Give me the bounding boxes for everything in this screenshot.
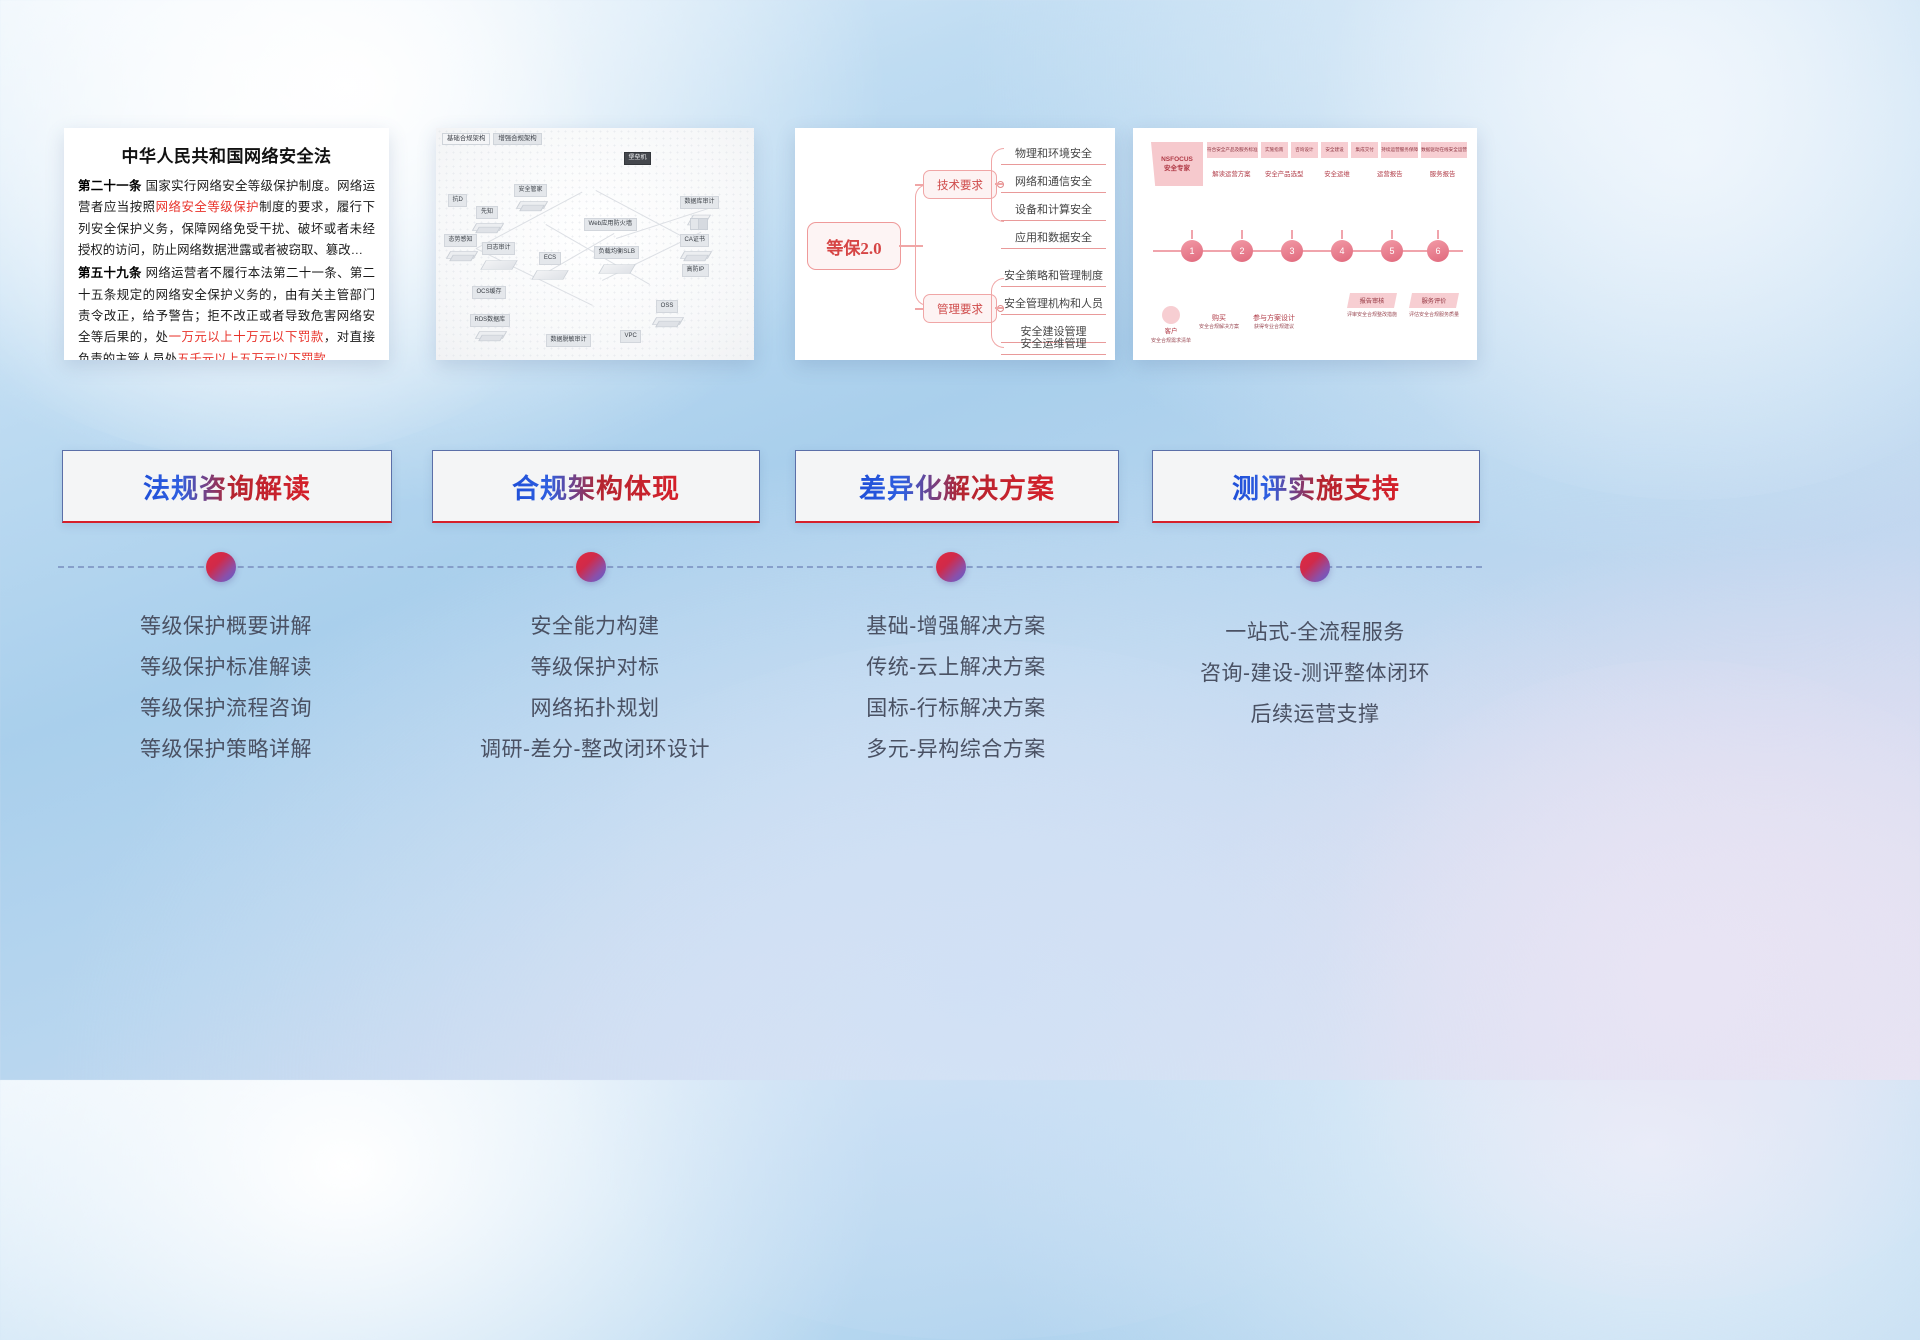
nsfocus-action-label: 参与方案设计 [1253, 313, 1295, 323]
list-item: 调研-差分-整改闭环设计 [432, 729, 758, 770]
title-box-regulatory-consulting[interactable]: 法规咨询解读 [62, 450, 392, 523]
arch-node-label: 安全管家 [514, 184, 547, 197]
cylinder-icon [518, 199, 544, 214]
title-text: 合规架构体现 [512, 467, 680, 506]
cylinder-icon [474, 221, 500, 236]
nsfocus-action-buy: 购买 安全合规解决方案 [1199, 313, 1239, 330]
arch-node-rds: RDS数据库 [470, 308, 510, 344]
nsfocus-action-label: 购买 [1199, 313, 1239, 323]
law-article-label-1: 第二十一条 [78, 179, 142, 193]
law-article-label-2: 第五十九条 [78, 266, 142, 280]
nsfocus-tag-label: 服务评价 [1409, 293, 1459, 308]
arch-node-security-butler: 安全管家 [514, 178, 547, 214]
nsfocus-tag-review: 报告审核 评审安全合规整改措施 [1347, 293, 1397, 318]
architecture-canvas: 基础合规架构 增强合规架构 安全管家 先知 态势感知 [436, 128, 754, 360]
list-item: 后续运营支撑 [1152, 694, 1478, 735]
nsfocus-step-2: 2 [1231, 240, 1253, 262]
nsfocus-step-6: 6 [1427, 240, 1449, 262]
nsfocus-customer-label: 客户 [1165, 326, 1178, 335]
arch-node-label: 抗D [448, 194, 467, 207]
card-architecture-diagram[interactable]: 基础合规架构 增强合规架构 安全管家 先知 态势感知 [436, 128, 754, 360]
nsfocus-brand: NSFOCUS [1161, 156, 1193, 163]
nsfocus-chip: 安全建设 [1321, 142, 1348, 158]
nsfocus-service: 解读运营方案 [1207, 162, 1256, 184]
architecture-tabs: 基础合规架构 增强合规架构 [442, 133, 542, 145]
nsfocus-service: 安全运维 [1313, 162, 1362, 184]
mindmap-brace [915, 184, 928, 306]
nsfocus-tick [1291, 230, 1293, 239]
nsfocus-service: 服务报告 [1418, 162, 1467, 184]
arch-node-label: 数据脱敏审计 [546, 334, 591, 347]
arch-node-slb: 负载均衡SLB [594, 240, 639, 277]
mindmap-leaf: 安全运维管理 [1001, 332, 1106, 355]
nsfocus-service: 运营报告 [1365, 162, 1414, 184]
customer-icon [1162, 306, 1180, 324]
column-list-3: 基础-增强解决方案 传统-云上解决方案 国标-行标解决方案 多元-异构综合方案 [795, 606, 1117, 770]
title-box-differentiated-solution[interactable]: 差异化解决方案 [795, 450, 1119, 523]
cylinder-icon [654, 315, 680, 330]
arch-node-label: 数据库审计 [680, 196, 719, 209]
arch-node-label: 堡垒机 [624, 152, 651, 165]
arch-node-label: OCS缓存 [472, 286, 506, 299]
mindmap-leaf: 安全策略和管理制度 [1001, 264, 1106, 287]
arch-node-db-audit: 数据库审计 [680, 190, 719, 231]
nsfocus-action-note: 获得专业合规建议 [1253, 323, 1295, 330]
arch-node-xianzhi: 先知 [474, 200, 500, 236]
arch-node-waf: Web应用防火墙 [584, 212, 637, 231]
nsfocus-header-band: NSFOCUS 安全专家 符合安全产品及服务标准 实施指南 咨询设计 安全建设 … [1151, 142, 1467, 186]
nsfocus-canvas: NSFOCUS 安全专家 符合安全产品及服务标准 实施指南 咨询设计 安全建设 … [1133, 128, 1477, 360]
arch-node-high-defense-ip: 高防IP [682, 258, 709, 277]
mindmap-branch-management: 管理要求 [923, 294, 997, 323]
list-item: 多元-异构综合方案 [795, 729, 1117, 770]
nsfocus-service-row: 解读运营方案 安全产品选型 安全运维 运营报告 服务报告 [1207, 162, 1467, 184]
arch-node-label: ECS [539, 252, 560, 265]
law-paragraph-1: 第二十一条 国家实行网络安全等级保护制度。网络运营者应当按照网络安全等级保护制度… [78, 176, 375, 261]
plate-icon [480, 260, 518, 270]
nsfocus-tick [1241, 230, 1243, 239]
arch-node-label: 态势感知 [444, 234, 477, 247]
nsfocus-tick [1391, 230, 1393, 239]
nsfocus-tick [1191, 230, 1193, 239]
cylinder-icon [477, 329, 503, 344]
arch-node-situation-awareness: 态势感知 [444, 228, 477, 264]
law-highlight-2a: 一万元以上十万元以下罚款 [169, 330, 324, 344]
nsfocus-step-3: 3 [1281, 240, 1303, 262]
list-item: 等级保护概要讲解 [62, 606, 390, 647]
nsfocus-step-4: 4 [1331, 240, 1353, 262]
plate-icon [598, 264, 636, 274]
arch-node-vpc: VPC [620, 324, 641, 343]
nsfocus-tag-note: 评估安全合规服务质量 [1409, 311, 1459, 318]
timeline-dashed-line [58, 566, 1482, 568]
nsfocus-chip: 数据驱动在线安全运营 [1421, 142, 1467, 158]
mindmap-leaf: 网络和通信安全 [1001, 170, 1106, 193]
column-list-1: 等级保护概要讲解 等级保护标准解读 等级保护流程咨询 等级保护策略详解 [62, 606, 390, 770]
arch-node-log-audit: 日志审计 [482, 236, 515, 273]
list-item: 国标-行标解决方案 [795, 688, 1117, 729]
list-item: 等级保护对标 [432, 647, 758, 688]
title-text: 差异化解决方案 [859, 467, 1055, 506]
nsfocus-chip: 集成交付 [1351, 142, 1378, 158]
arch-node-bastion-host: 堡垒机 [624, 146, 651, 165]
nsfocus-customer-block: 客户 安全合规需求清单 [1151, 306, 1191, 344]
nsfocus-tag-label: 报告审核 [1347, 293, 1397, 308]
mindmap-leaf: 安全管理机构和人员 [1001, 292, 1106, 315]
nsfocus-chip: 持续运营服务保障 [1381, 142, 1418, 158]
nsfocus-tag-evaluation: 服务评价 评估安全合规服务质量 [1409, 293, 1459, 318]
mind-map-canvas: 等保2.0 技术要求 管理要求 物理和环境安全 网络和通信安全 设备和计算安全 … [795, 128, 1115, 360]
nsfocus-customer-note: 安全合规需求清单 [1151, 337, 1191, 344]
arch-node-label: 高防IP [682, 264, 709, 277]
list-item: 安全能力构建 [432, 606, 758, 647]
arch-node-label: Web应用防火墙 [584, 218, 637, 231]
title-text: 法规咨询解读 [143, 467, 311, 506]
card-law-document[interactable]: 中华人民共和国网络安全法 第二十一条 国家实行网络安全等级保护制度。网络运营者应… [64, 128, 389, 360]
arch-node-anti-ddos: 抗D [448, 188, 467, 207]
list-item: 咨询-建设-测评整体闭环 [1152, 653, 1478, 694]
timeline-dot-4[interactable] [1300, 552, 1330, 582]
arch-node-oss: OSS [654, 294, 680, 330]
arch-node-label: RDS数据库 [470, 314, 510, 327]
law-highlight-1: 网络安全等级保护 [156, 200, 260, 214]
arch-node-label: CA证书 [680, 234, 709, 247]
nsfocus-action-note: 安全合规解决方案 [1199, 323, 1239, 330]
law-highlight-2b: 五千元以上五万元以下罚款。 [177, 352, 338, 360]
cylinder-icon [448, 249, 474, 264]
list-item: 等级保护流程咨询 [62, 688, 390, 729]
plate-icon [531, 270, 569, 280]
column-list-2: 安全能力构建 等级保护对标 网络拓扑规划 调研-差分-整改闭环设计 [432, 606, 758, 770]
timeline-dot-3[interactable] [936, 552, 966, 582]
nsfocus-action-design: 参与方案设计 获得专业合规建议 [1253, 313, 1295, 330]
nsfocus-chip: 咨询设计 [1291, 142, 1318, 158]
nsfocus-tick [1437, 230, 1439, 239]
background-glow-bottom-right [1300, 660, 1920, 1300]
nsfocus-step-5: 5 [1381, 240, 1403, 262]
nsfocus-tag-note: 评审安全合规整改措施 [1347, 311, 1397, 318]
law-document-title: 中华人民共和国网络安全法 [78, 142, 375, 167]
title-text: 测评实施支持 [1232, 467, 1400, 506]
list-item: 传统-云上解决方案 [795, 647, 1117, 688]
title-box-evaluation-support[interactable]: 测评实施支持 [1152, 450, 1480, 523]
image-card-row: 中华人民共和国网络安全法 第二十一条 国家实行网络安全等级保护制度。网络运营者应… [0, 128, 1920, 360]
arch-node-label: OSS [656, 300, 678, 313]
law-paragraph-2: 第五十九条 网络运营者不履行本法第二十一条、第二十五条规定的网络安全保护义务的，… [78, 263, 375, 360]
list-item: 等级保护标准解读 [62, 647, 390, 688]
mindmap-root-node: 等保2.0 [807, 222, 901, 270]
nsfocus-tick [1341, 230, 1343, 239]
arch-node-ocs-cache: OCS缓存 [472, 280, 506, 299]
mindmap-branch-technical: 技术要求 [923, 170, 997, 199]
mindmap-leaf: 应用和数据安全 [1001, 226, 1106, 249]
nsfocus-chip: 实施指南 [1261, 142, 1288, 158]
tab-basic-compliance[interactable]: 基础合规架构 [442, 133, 490, 145]
arch-node-label: 负载均衡SLB [594, 246, 639, 259]
arch-node-label: VPC [620, 330, 641, 343]
nsfocus-step-1: 1 [1181, 240, 1203, 262]
list-item: 一站式-全流程服务 [1152, 612, 1478, 653]
nsfocus-chip-row: 符合安全产品及服务标准 实施指南 咨询设计 安全建设 集成交付 持续运营服务保障… [1207, 142, 1467, 158]
title-box-compliance-architecture[interactable]: 合规架构体现 [432, 450, 760, 523]
card-nsfocus-timeline[interactable]: NSFOCUS 安全专家 符合安全产品及服务标准 实施指南 咨询设计 安全建设 … [1133, 128, 1477, 360]
law-document-body: 中华人民共和国网络安全法 第二十一条 国家实行网络安全等级保护制度。网络运营者应… [64, 128, 389, 360]
arch-node-label: 先知 [476, 206, 497, 219]
column-list-4: 一站式-全流程服务 咨询-建设-测评整体闭环 后续运营支撑 [1152, 612, 1478, 735]
arch-node-ecs: ECS [534, 246, 566, 283]
list-item: 网络拓扑规划 [432, 688, 758, 729]
mindmap-leaf: 设备和计算安全 [1001, 198, 1106, 221]
timeline-dot-2[interactable] [576, 552, 606, 582]
arch-node-data-masking-audit: 数据脱敏审计 [546, 328, 591, 347]
mindmap-leaf: 物理和环境安全 [1001, 142, 1106, 165]
list-item: 基础-增强解决方案 [795, 606, 1117, 647]
nsfocus-brand-sub: 安全专家 [1164, 165, 1190, 172]
nsfocus-chip: 符合安全产品及服务标准 [1207, 142, 1258, 158]
nsfocus-logo: NSFOCUS 安全专家 [1151, 142, 1203, 186]
card-mind-map[interactable]: 等保2.0 技术要求 管理要求 物理和环境安全 网络和通信安全 设备和计算安全 … [795, 128, 1115, 360]
timeline-dot-1[interactable] [206, 552, 236, 582]
arch-node-label: 日志审计 [482, 242, 515, 255]
list-item: 等级保护策略详解 [62, 729, 390, 770]
nsfocus-service: 安全产品选型 [1260, 162, 1309, 184]
tab-enhanced-compliance[interactable]: 增强合规架构 [493, 133, 541, 145]
